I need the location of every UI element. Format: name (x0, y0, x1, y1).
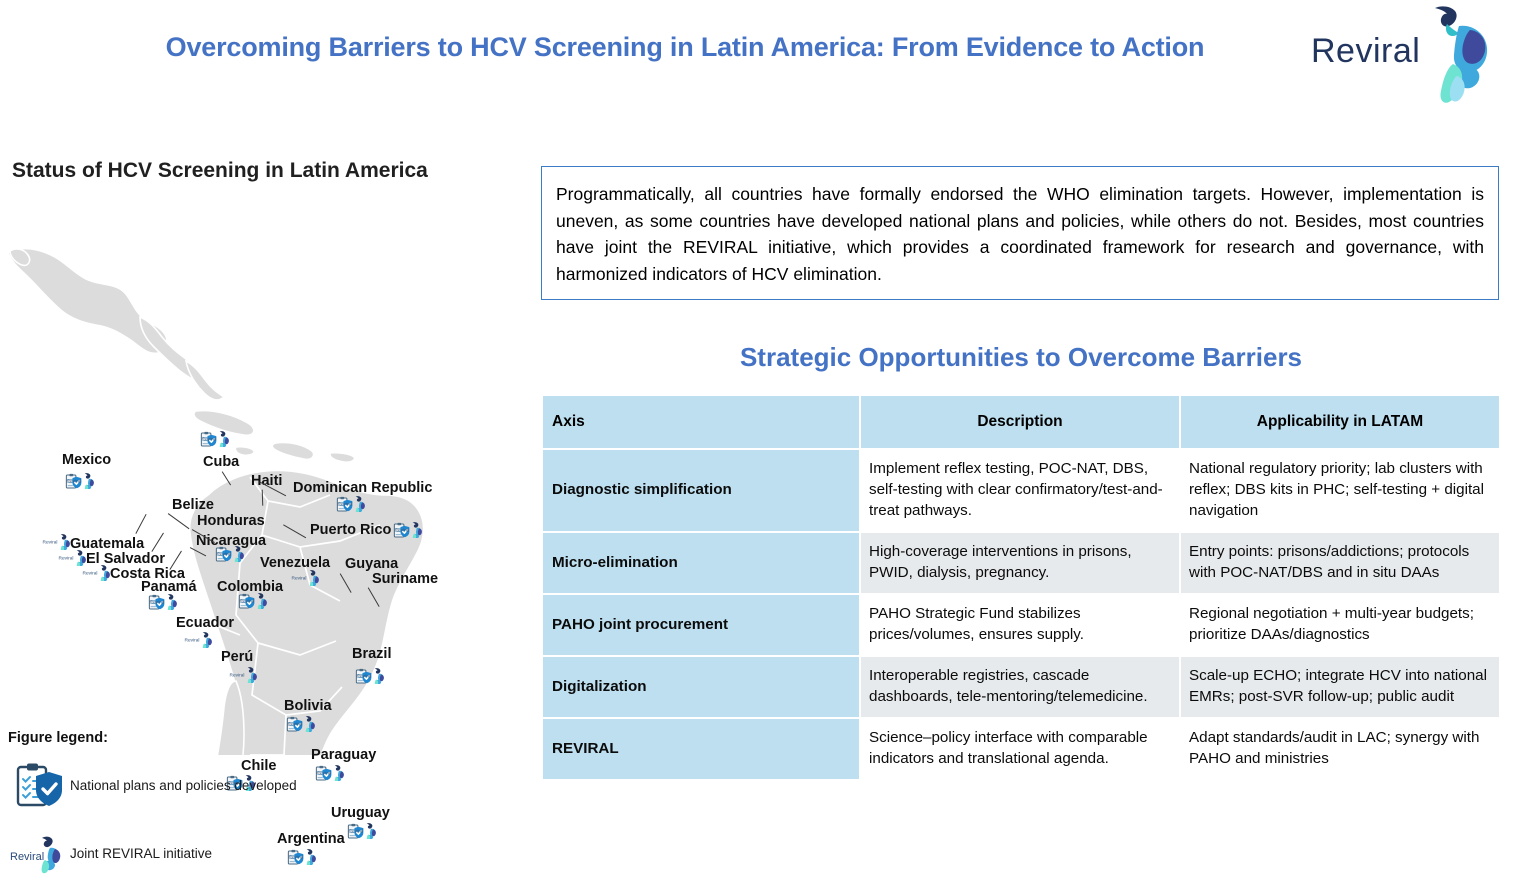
country-label-paraguay: Paraguay (311, 748, 376, 763)
cell-applicability: Regional negotiation + multi-year budget… (1180, 594, 1500, 656)
svg-text:Reviral: Reviral (150, 600, 165, 606)
country-label-dominican-republic: Dominican Republic (293, 481, 432, 496)
reviral-mini-logo-icon: Reviral (8, 826, 70, 882)
legend-item-national-plans: National plans and policies developed (8, 758, 298, 814)
country-label-panam-: Panamá (141, 580, 197, 595)
cell-axis: Digitalization (542, 656, 860, 718)
reviral-map-mark-icon (1397, 4, 1489, 104)
svg-text:Reviral: Reviral (288, 722, 303, 728)
legend-label: National plans and policies developed (70, 777, 297, 795)
svg-text:Reviral: Reviral (240, 599, 255, 605)
reviral-logo: Reviral (1311, 4, 1491, 104)
summary-callout-box: Programmatically, all countries have for… (541, 166, 1499, 300)
legend-item-reviral: Reviral Joint REVIRAL initiative (8, 826, 298, 882)
svg-text:Reviral: Reviral (10, 851, 44, 863)
svg-text:Reviral: Reviral (59, 556, 74, 562)
cell-axis: Micro-elimination (542, 532, 860, 594)
svg-text:Reviral: Reviral (83, 571, 98, 577)
legend-label: Joint REVIRAL initiative (70, 845, 212, 863)
country-label-venezuela: Venezuela (260, 556, 330, 571)
column-header-applicability: Applicability in LATAM (1180, 395, 1500, 449)
table-row: Diagnostic simplificationImplement refle… (542, 449, 1500, 532)
latin-america-map[interactable]: MexicoReviralCubaReviralHaitiDominican R… (0, 195, 500, 755)
map-panel: Status of HCV Screening in Latin America (0, 150, 520, 886)
svg-text:Reviral: Reviral (67, 479, 82, 485)
country-label-uruguay: Uruguay (331, 806, 390, 821)
country-label-guyana: Guyana (345, 557, 398, 572)
table-heading: Strategic Opportunities to Overcome Barr… (541, 342, 1501, 373)
table-row: REVIRALScience–policy interface with com… (542, 718, 1500, 780)
svg-text:Reviral: Reviral (185, 638, 200, 644)
page-title: Overcoming Barriers to HCV Screening in … (70, 32, 1300, 63)
cell-description: PAHO Strategic Fund stabilizes prices/vo… (860, 594, 1180, 656)
cell-applicability: National regulatory priority; lab cluste… (1180, 449, 1500, 532)
table-header-row: Axis Description Applicability in LATAM (542, 395, 1500, 449)
svg-text:Reviral: Reviral (317, 771, 332, 777)
cell-axis: Diagnostic simplification (542, 449, 860, 532)
cell-axis: REVIRAL (542, 718, 860, 780)
country-label-suriname: Suriname (372, 572, 438, 587)
country-label-cuba: Cuba (203, 455, 239, 470)
strategic-opportunities-table: Axis Description Applicability in LATAM … (541, 394, 1501, 781)
country-label-mexico: Mexico (62, 453, 111, 468)
clipboard-shield-icon (8, 758, 70, 814)
country-label-brazil: Brazil (352, 647, 392, 662)
svg-text:Reviral: Reviral (349, 829, 364, 835)
cell-description: High-coverage interventions in prisons, … (860, 532, 1180, 594)
column-header-axis: Axis (542, 395, 860, 449)
country-label-bolivia: Bolivia (284, 699, 332, 714)
svg-text:Reviral: Reviral (217, 552, 232, 558)
svg-text:Reviral: Reviral (230, 673, 245, 679)
cell-description: Implement reflex testing, POC-NAT, DBS, … (860, 449, 1180, 532)
table-row: DigitalizationInteroperable registries, … (542, 656, 1500, 718)
svg-text:Reviral: Reviral (395, 528, 410, 534)
column-header-description: Description (860, 395, 1180, 449)
cell-description: Science–policy interface with comparable… (860, 718, 1180, 780)
cell-applicability: Adapt standards/audit in LAC; synergy wi… (1180, 718, 1500, 780)
callout-text: Programmatically, all countries have for… (556, 181, 1484, 287)
legend-title: Figure legend: (8, 730, 298, 746)
country-label-ecuador: Ecuador (176, 616, 234, 631)
svg-text:Reviral: Reviral (338, 502, 353, 508)
cell-applicability: Scale-up ECHO; integrate HCV into nation… (1180, 656, 1500, 718)
svg-text:Reviral: Reviral (202, 437, 217, 443)
figure-legend: Figure legend: (8, 730, 298, 894)
svg-text:Reviral: Reviral (43, 540, 58, 546)
svg-text:Reviral: Reviral (292, 576, 307, 582)
country-label-belize: Belize (172, 498, 214, 513)
table-row: Micro-eliminationHigh-coverage intervent… (542, 532, 1500, 594)
map-heading: Status of HCV Screening in Latin America (12, 159, 428, 183)
content-column: Programmatically, all countries have for… (541, 166, 1501, 781)
cell-applicability: Entry points: prisons/addictions; protoc… (1180, 532, 1500, 594)
svg-text:Reviral: Reviral (357, 674, 372, 680)
table-row: PAHO joint procurementPAHO Strategic Fun… (542, 594, 1500, 656)
cell-description: Interoperable registries, cascade dashbo… (860, 656, 1180, 718)
country-label-per-: Perú (221, 650, 253, 665)
country-label-honduras: Honduras (197, 514, 265, 529)
cell-axis: PAHO joint procurement (542, 594, 860, 656)
slide-header: Overcoming Barriers to HCV Screening in … (0, 0, 1521, 110)
country-label-puerto-rico: Puerto Rico (310, 523, 391, 538)
